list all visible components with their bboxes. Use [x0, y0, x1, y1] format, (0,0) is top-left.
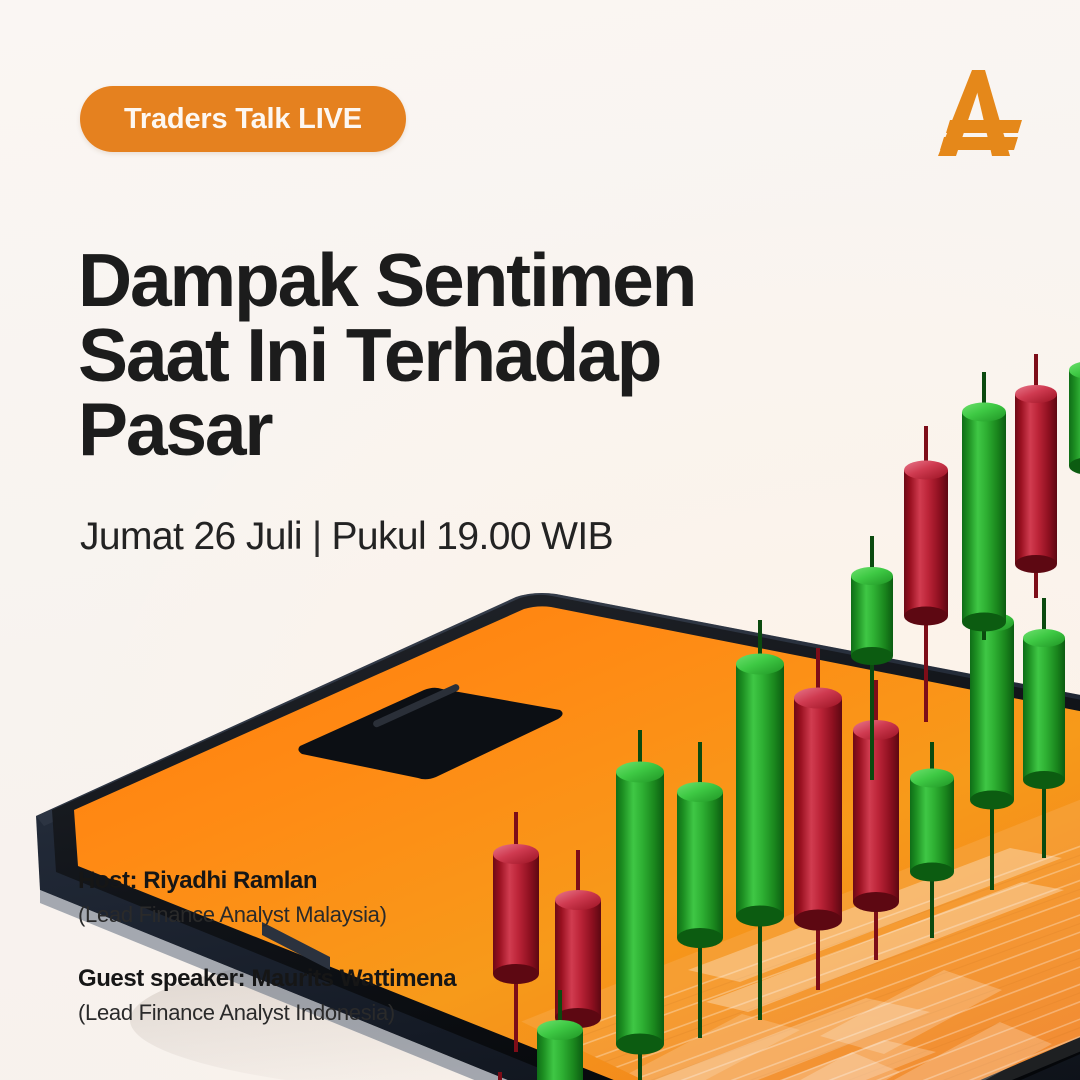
badge-label: Traders Talk LIVE	[124, 103, 362, 136]
speaker-guest: Guest speaker: Maurits Wattimena (Lead F…	[78, 964, 548, 1028]
traders-talk-live-badge[interactable]: Traders Talk LIVE	[80, 86, 406, 152]
candle-series	[478, 580, 1065, 1080]
headline-line-1: Dampak Sentimen	[78, 243, 798, 317]
candle-16-down	[1015, 354, 1057, 598]
candle-4-up	[677, 742, 723, 1038]
speaker-host-name: Host: Riyadhi Ramlan	[78, 866, 548, 896]
candle-10-down	[478, 1072, 522, 1080]
speaker-host-role: (Lead Finance Analyst Malaysia)	[78, 900, 548, 930]
candle-8-up	[910, 742, 954, 938]
speaker-host: Host: Riyadhi Ramlan (Lead Finance Analy…	[78, 866, 548, 930]
candle-3-up	[616, 730, 664, 1080]
poster-canvas: Traders Talk LIVE Dampak Sentimen Saat I…	[0, 0, 1080, 1080]
candle-5-up	[736, 620, 784, 1020]
speaker-guest-role: (Lead Finance Analyst Indonesia)	[78, 998, 548, 1028]
candle-14-down	[904, 426, 948, 722]
candle-7-down	[853, 680, 899, 960]
austral-a-logo-icon	[930, 62, 1030, 162]
candle-17-up	[1069, 336, 1080, 544]
candle-6-down	[794, 648, 842, 990]
speaker-list: Host: Riyadhi Ramlan (Lead Finance Analy…	[78, 866, 548, 1027]
candle-15-up	[962, 372, 1006, 640]
speaker-guest-name: Guest speaker: Maurits Wattimena	[78, 964, 548, 994]
candle-12-up	[1023, 598, 1065, 858]
